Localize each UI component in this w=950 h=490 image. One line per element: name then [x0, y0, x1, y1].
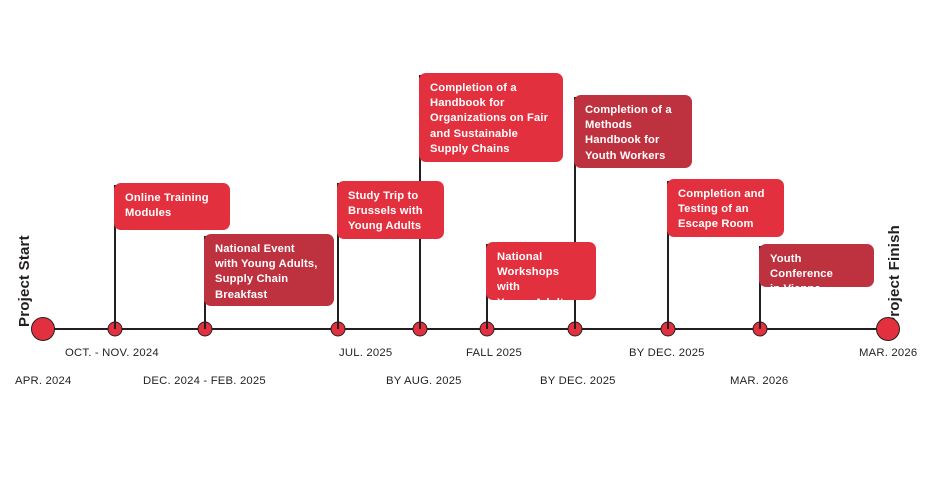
flag-escape-room[interactable]: Completion and Testing of an Escape Room [667, 179, 784, 237]
milestone-node-project-finish[interactable] [876, 317, 900, 341]
date-label-handbook-supply-chains: BY AUG. 2025 [386, 375, 462, 387]
date-label-online-training-modules: OCT. - NOV. 2024 [65, 347, 159, 359]
date-label-escape-room: BY DEC. 2025 [629, 347, 705, 359]
flag-national-event-supply-chain-breakfast[interactable]: National Event with Young Adults, Supply… [204, 234, 334, 306]
flag-handbook-fair-sustainable-supply-chains[interactable]: Completion of a Handbook for Organizatio… [419, 73, 563, 162]
date-label-national-event: DEC. 2024 - FEB. 2025 [143, 375, 266, 387]
flag-national-workshops-young-adults[interactable]: National Workshops with Young Adults [486, 242, 596, 300]
project-start-label: Project Start [16, 235, 33, 327]
timeline-diagram: Project Start Project Finish Online Trai… [0, 0, 950, 490]
flag-youth-conference-vienna[interactable]: Youth Conference in Vienna [759, 244, 874, 287]
date-label-project-start: APR. 2024 [15, 375, 71, 387]
date-label-youth-conference: MAR. 2026 [730, 375, 788, 387]
project-finish-label: Project Finish [886, 225, 903, 327]
milestone-node-project-start[interactable] [31, 317, 55, 341]
date-label-methods-handbook: BY DEC. 2025 [540, 375, 616, 387]
date-label-national-workshops: FALL 2025 [466, 347, 522, 359]
date-label-project-finish: MAR. 2026 [859, 347, 917, 359]
flag-study-trip-brussels[interactable]: Study Trip to Brussels with Young Adults [337, 181, 444, 239]
flag-methods-handbook-youth-workers[interactable]: Completion of a Methods Handbook for You… [574, 95, 692, 168]
flag-online-training-modules[interactable]: Online Training Modules [114, 183, 230, 230]
date-label-study-trip-brussels: JUL. 2025 [339, 347, 392, 359]
